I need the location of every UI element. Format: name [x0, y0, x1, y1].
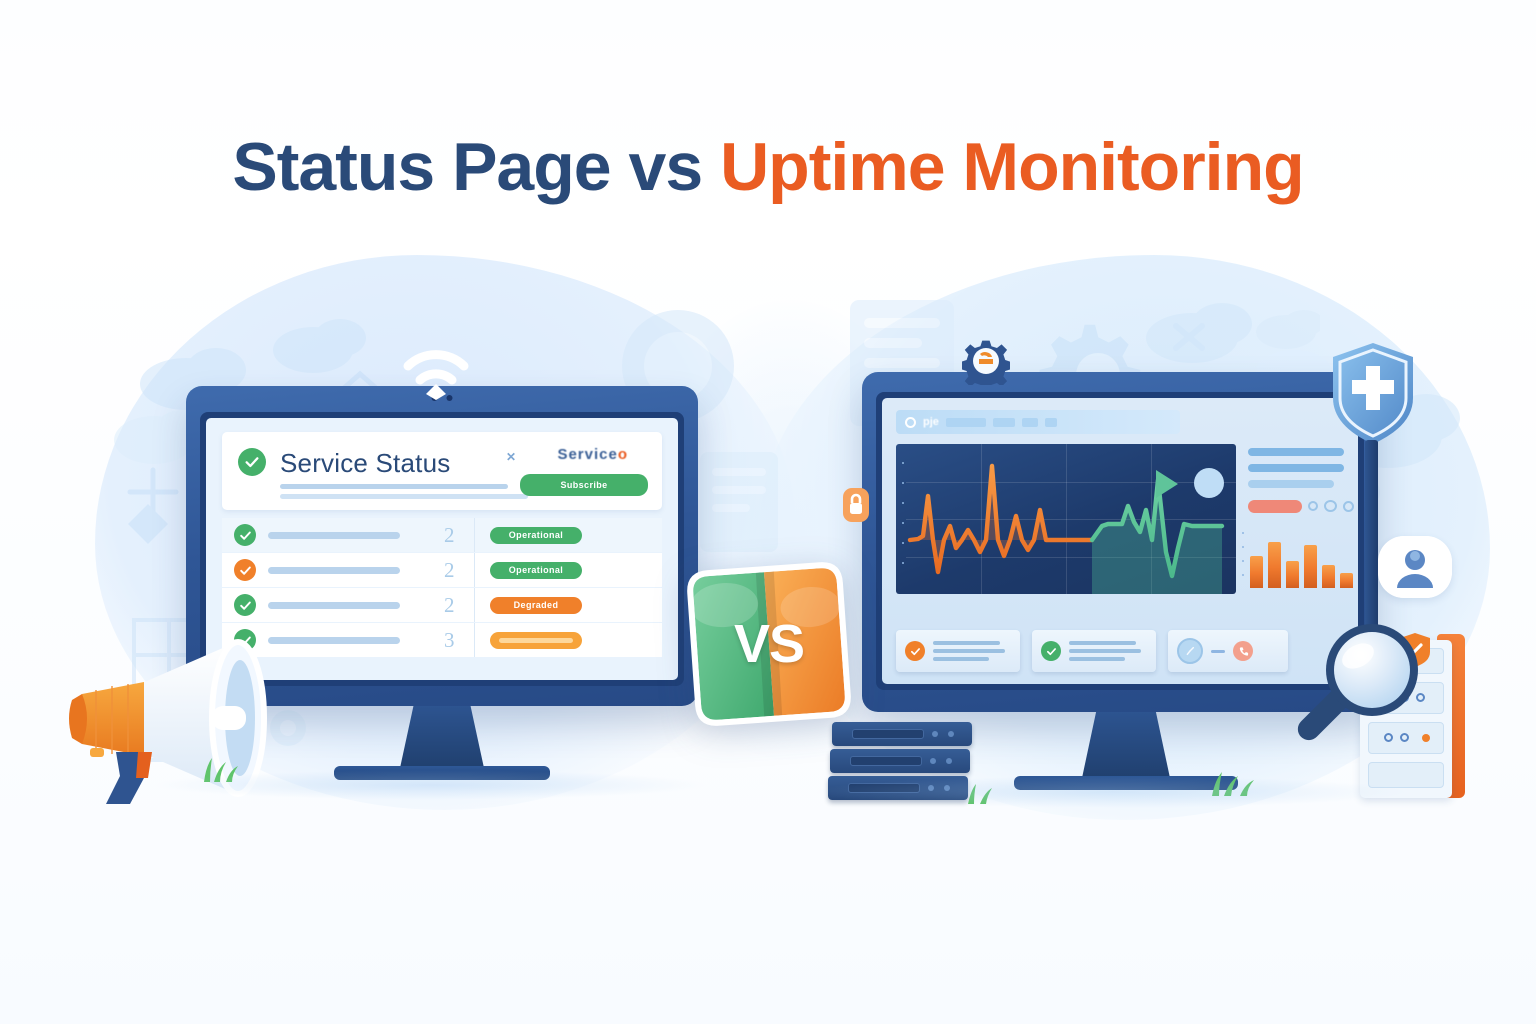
- row-skeleton-label: [268, 532, 400, 539]
- address-bar-segment: [993, 418, 1015, 427]
- sidebar-skeleton-line: [1248, 480, 1334, 488]
- header-brand-label: Serviceo: [557, 446, 628, 463]
- bar-item: [1340, 573, 1353, 588]
- table-row[interactable]: 2 Operational: [222, 518, 662, 552]
- address-bar-segment: [1022, 418, 1038, 427]
- vs-badge-label: VS: [683, 558, 855, 730]
- address-bar-url: pje: [923, 416, 939, 428]
- response-waveform-chart: [896, 444, 1236, 594]
- header-skeleton-line-2: [280, 494, 528, 499]
- table-row[interactable]: 2 Operational: [222, 553, 662, 587]
- bar-item: [1304, 545, 1317, 588]
- header-skeleton-line-1: [280, 484, 508, 489]
- monitor-neck-right: [1082, 712, 1170, 778]
- card-skeleton-lines: [933, 641, 1011, 661]
- service-status-title: Service Status: [280, 450, 450, 476]
- floor-shadow-right: [810, 776, 1410, 808]
- globe-icon: [905, 417, 916, 428]
- page-title: Status Page vs Uptime Monitoring: [0, 128, 1536, 206]
- phone-icon: [1233, 641, 1253, 661]
- gauge-connector: [1211, 650, 1225, 653]
- magnifying-glass-icon: [1286, 612, 1432, 758]
- header-x-icon: ✕: [506, 450, 516, 464]
- row-status-badge: Degraded: [490, 597, 582, 614]
- circle-indicator: [1194, 468, 1224, 498]
- wifi-icon: [396, 338, 476, 400]
- card-skeleton-lines: [1069, 641, 1147, 661]
- bar-item: [1268, 542, 1281, 588]
- server-unit: [830, 749, 970, 773]
- address-bar-segment: [946, 418, 986, 427]
- check-circle-icon: [905, 641, 925, 661]
- sidebar-skeleton-line: [1248, 448, 1344, 456]
- service-status-header-card: Service Status ✕ Serviceo Subscribe: [222, 432, 662, 510]
- address-bar[interactable]: pje: [896, 410, 1180, 434]
- row-check-icon: [234, 594, 256, 616]
- subscribe-button[interactable]: Subscribe: [520, 474, 648, 496]
- row-skeleton-label: [268, 567, 400, 574]
- row-status-badge: Operational: [490, 527, 582, 544]
- waveform-svg: [896, 444, 1236, 594]
- bar-item: [1286, 561, 1299, 588]
- sidebar-skeleton-line: [1248, 464, 1344, 472]
- title-segment-uptime-monitoring: Uptime Monitoring: [720, 129, 1304, 205]
- row-glyph: 2: [444, 523, 455, 548]
- play-triangle-icon[interactable]: [1156, 470, 1178, 498]
- row-glyph: 2: [444, 593, 455, 618]
- row-status-badge: Operational: [490, 562, 582, 579]
- sidebar-ring-icon: [1308, 501, 1318, 511]
- title-segment-status-page: Status Page: [232, 129, 610, 205]
- header-check-icon: [238, 448, 266, 476]
- response-bar-chart: [1248, 526, 1358, 588]
- vs-badge: VS: [683, 558, 855, 730]
- gear-icon: [962, 337, 1010, 385]
- illustration-canvas: Status Page vs Uptime Monitoring Service…: [0, 0, 1536, 1024]
- shield-cross-icon: [1327, 340, 1419, 448]
- address-bar-segment: [1045, 418, 1057, 427]
- row-check-icon: [234, 559, 256, 581]
- bar-item: [1322, 565, 1335, 588]
- status-card-gauge[interactable]: [1168, 630, 1288, 672]
- floor-shadow-left: [150, 770, 710, 800]
- lock-icon: [843, 488, 869, 522]
- dashboard-sidebar: [1248, 444, 1348, 622]
- table-row[interactable]: 2 Degraded: [222, 588, 662, 622]
- row-status-badge: [490, 632, 582, 649]
- monitor-neck-left: [400, 706, 484, 768]
- bar-item: [1250, 556, 1263, 588]
- check-circle-icon: [1041, 641, 1061, 661]
- status-card-warning[interactable]: [896, 630, 1020, 672]
- row-glyph: 3: [444, 628, 455, 653]
- gauge-icon: [1177, 638, 1203, 664]
- sidebar-alert-bar: [1248, 500, 1302, 513]
- row-skeleton-label: [268, 602, 400, 609]
- user-avatar-bubble: [1378, 536, 1452, 598]
- sidebar-ring-icon: [1343, 501, 1354, 512]
- title-segment-vs: vs: [629, 129, 703, 205]
- server-unit: [832, 722, 972, 746]
- status-card-ok[interactable]: [1032, 630, 1156, 672]
- row-check-icon: [234, 524, 256, 546]
- row-glyph: 2: [444, 558, 455, 583]
- sidebar-ring-icon: [1324, 500, 1337, 512]
